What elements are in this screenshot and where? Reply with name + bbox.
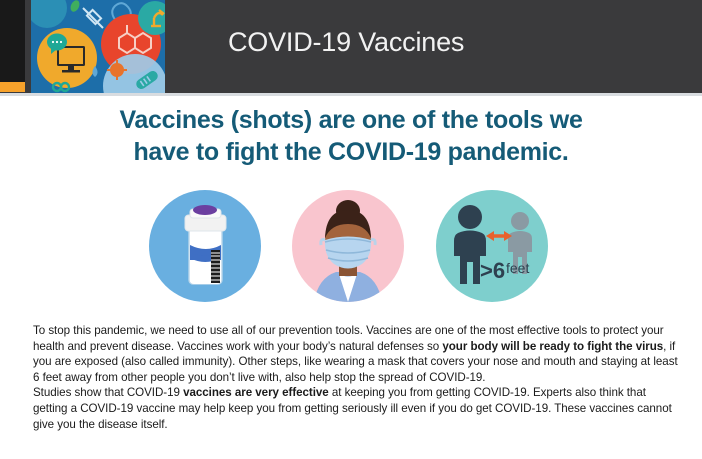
svg-text:>6: >6 [480,258,505,283]
paragraph-1: To stop this pandemic, we need to use al… [33,323,678,385]
header-band: COVID-19 Vaccines [0,0,702,93]
p2-bold1: vaccines are very effective [183,386,329,399]
social-distancing-icon: >6 feet [436,190,548,302]
p1-bold1: your body will be ready to fight the vir… [442,340,663,353]
masked-person-icon [292,190,404,302]
vaccine-vial-icon [149,190,261,302]
headline-line-1: Vaccines (shots) are one of the tools we [0,104,702,136]
covid-science-collage-icon [31,0,165,93]
headline: Vaccines (shots) are one of the tools we… [0,104,702,168]
body-copy: To stop this pandemic, we need to use al… [33,323,678,432]
headline-line-2: have to fight the COVID-19 pandemic. [0,136,702,168]
header-underline [0,93,702,96]
svg-text:feet: feet [506,260,529,276]
paragraph-2: Studies show that COVID-19 vaccines are … [33,385,678,432]
p2-seg1: Studies show that COVID-19 [33,386,183,399]
prevention-icon-row: >6 feet [0,188,702,306]
header-left-black-bar [0,0,25,82]
header-left-orange-accent [0,82,25,92]
page-title: COVID-19 Vaccines [228,27,464,58]
